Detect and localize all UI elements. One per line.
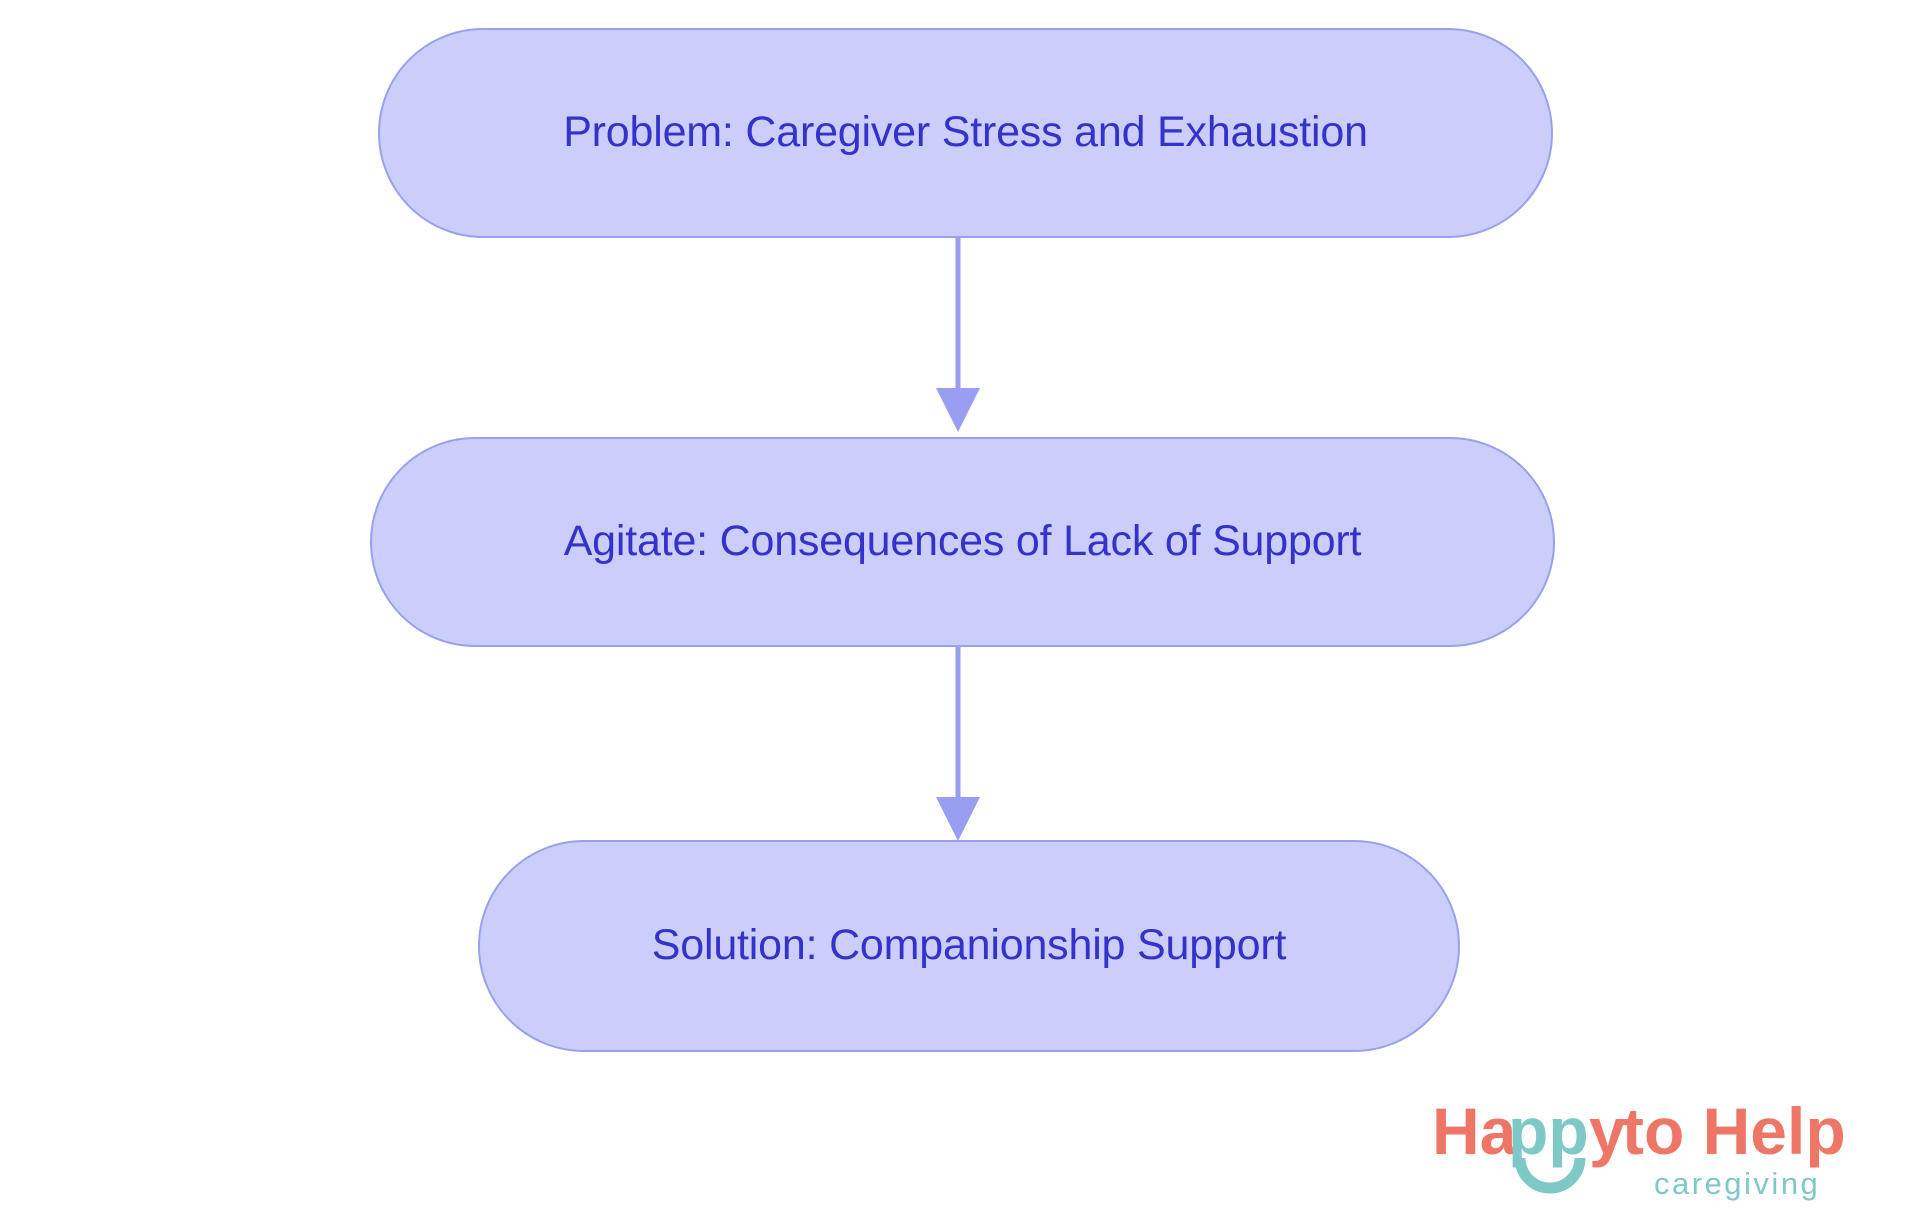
flow-node-problem[interactable]: Problem: Caregiver Stress and Exhaustion [378,28,1553,238]
flow-node-problem-label: Problem: Caregiver Stress and Exhaustion [563,109,1368,156]
logo-tagline: caregiving [1654,1166,1820,1201]
flow-edge-problem-to-agitate [930,238,986,433]
arrow-down-icon [930,647,986,842]
flow-node-agitate-label: Agitate: Consequences of Lack of Support [564,518,1362,565]
logo-text-ha: Ha [1432,1094,1518,1168]
happy-to-help-logo-icon: Ha pp y to Help caregiving [1432,1094,1900,1206]
flow-node-solution-label: Solution: Companionship Support [652,922,1286,969]
flow-edge-agitate-to-solution [930,647,986,842]
brand-logo: Ha pp y to Help caregiving [1432,1094,1900,1206]
logo-text-to-help: to Help [1622,1094,1846,1168]
flow-node-solution[interactable]: Solution: Companionship Support [478,840,1460,1052]
logo-text-y: y [1589,1094,1626,1168]
logo-text-pp: pp [1508,1094,1589,1168]
flow-node-agitate[interactable]: Agitate: Consequences of Lack of Support [370,437,1555,647]
arrow-down-icon [930,238,986,433]
flowchart-canvas: Problem: Caregiver Stress and Exhaustion… [0,0,1920,1215]
